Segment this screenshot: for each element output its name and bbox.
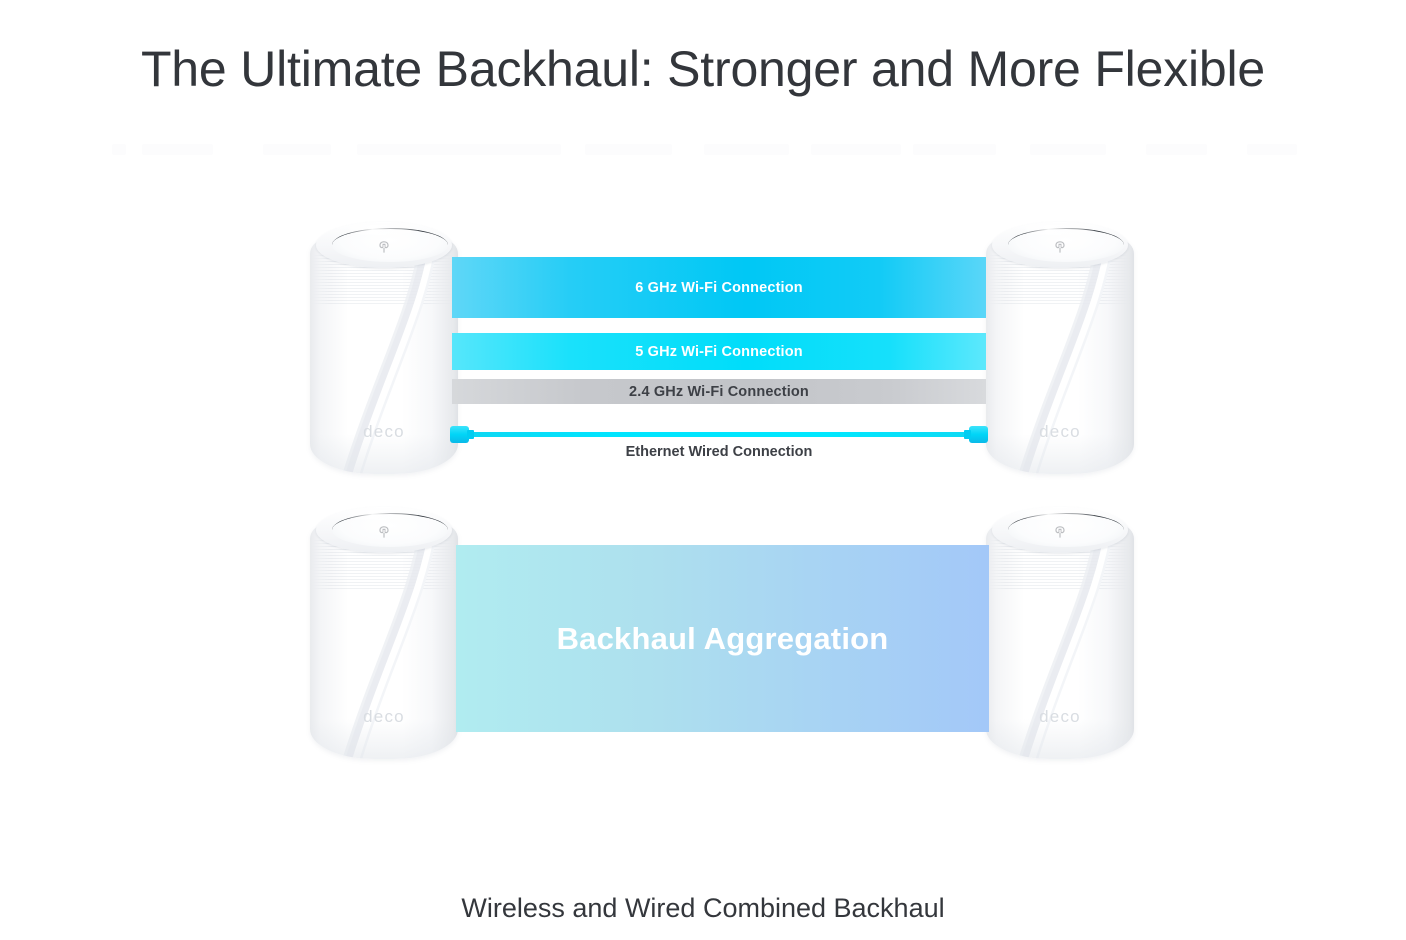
tp-link-logo-icon: [376, 525, 392, 539]
tp-link-logo-icon: [1052, 525, 1068, 539]
deco-brand-label: deco: [986, 707, 1134, 727]
ethernet-cable: [452, 426, 986, 443]
connection-bar-wifi-24ghz: 2.4 GHz Wi-Fi Connection: [452, 379, 986, 404]
page-caption: Wireless and Wired Combined Backhaul: [0, 893, 1406, 924]
router-rim-gloss: [342, 225, 418, 235]
infographic-page: The Ultimate Backhaul: Stronger and More…: [0, 0, 1406, 940]
ethernet-plug-right-icon: [969, 426, 988, 443]
router-top-rim: [316, 507, 452, 553]
deco-brand-label: deco: [986, 422, 1134, 442]
connection-bar-label: 6 GHz Wi-Fi Connection: [635, 280, 803, 296]
deco-router-top-left: deco: [310, 222, 458, 474]
router-top-rim: [992, 222, 1128, 268]
router-top-rim: [316, 222, 452, 268]
connection-bar-wifi-6ghz: 6 GHz Wi-Fi Connection: [452, 257, 986, 318]
deco-router-bottom-right: deco: [986, 507, 1134, 759]
router-rim-gloss: [1018, 225, 1094, 235]
backhaul-aggregation-label: Backhaul Aggregation: [557, 621, 889, 657]
backhaul-aggregation-block: Backhaul Aggregation: [456, 545, 989, 732]
router-rim-gloss: [342, 510, 418, 520]
ethernet-cable-line: [452, 432, 986, 437]
deco-router-bottom-left: deco: [310, 507, 458, 759]
ethernet-plug-left-icon: [450, 426, 469, 443]
deco-router-top-right: deco: [986, 222, 1134, 474]
connection-bar-label: 2.4 GHz Wi-Fi Connection: [629, 384, 809, 400]
router-rim-gloss: [1018, 510, 1094, 520]
deco-brand-label: deco: [310, 707, 458, 727]
diagram-stage: deco: [0, 0, 1406, 940]
router-top-rim: [992, 507, 1128, 553]
deco-brand-label: deco: [310, 422, 458, 442]
tp-link-logo-icon: [376, 240, 392, 254]
ethernet-connection-label: Ethernet Wired Connection: [452, 444, 986, 460]
connection-bar-label: 5 GHz Wi-Fi Connection: [635, 344, 803, 360]
tp-link-logo-icon: [1052, 240, 1068, 254]
connection-bar-wifi-5ghz: 5 GHz Wi-Fi Connection: [452, 333, 986, 370]
